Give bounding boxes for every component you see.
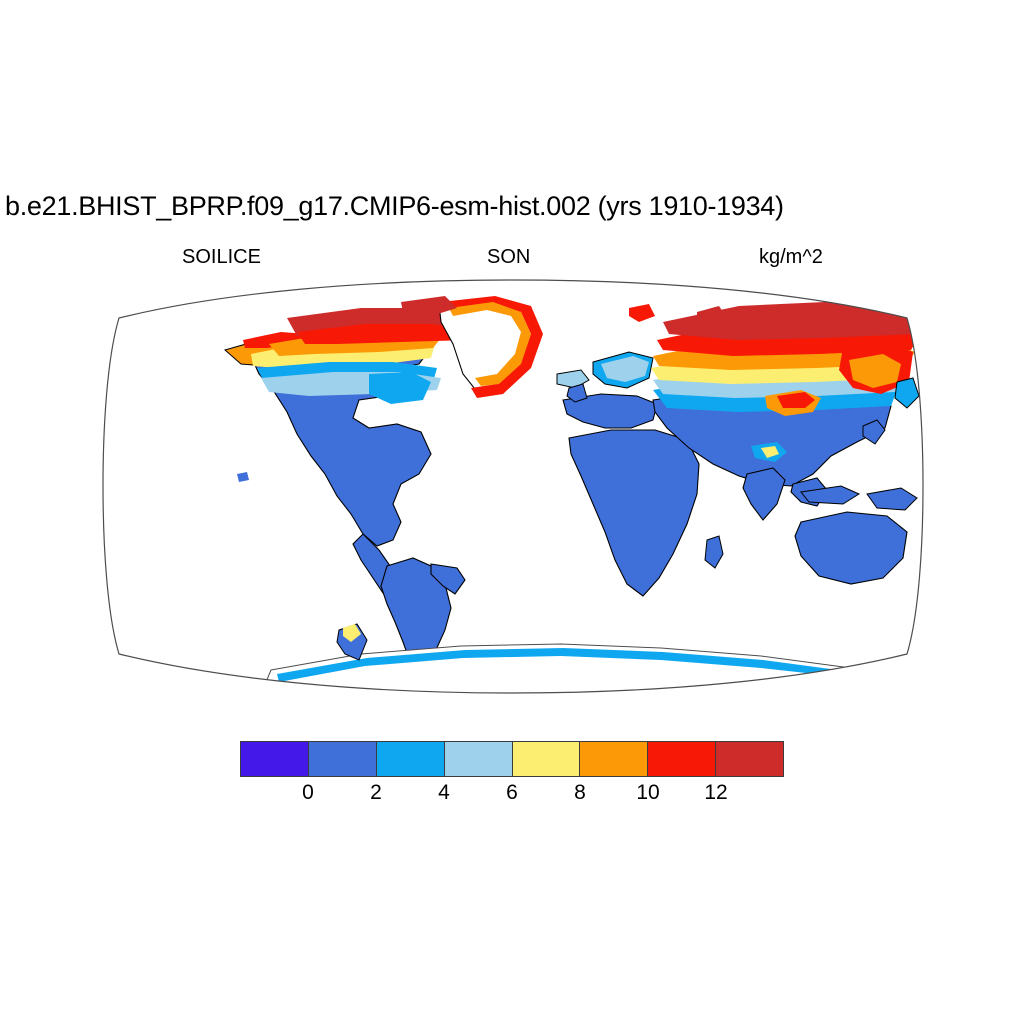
page-title: b.e21.BHIST_BPRP.f09_g17.CMIP6-esm-hist.… — [5, 190, 1021, 222]
colorbar-tick-label: 2 — [370, 780, 382, 805]
colorbar-tick-label: 4 — [438, 780, 450, 805]
colorbar-swatch — [309, 742, 377, 776]
variable-label: SOILICE — [182, 245, 261, 269]
colorbar-tick-label: 8 — [574, 780, 586, 805]
units-label: kg/m^2 — [759, 245, 823, 269]
colorbar-swatch — [241, 742, 309, 776]
colorbar-swatch — [716, 742, 783, 776]
world-map — [101, 278, 925, 695]
colorbar — [240, 741, 784, 777]
map-panel — [101, 278, 925, 695]
colorbar-swatch — [648, 742, 716, 776]
region-new-zealand — [923, 572, 925, 604]
colorbar-ticks: 024681012 — [240, 780, 784, 806]
colorbar-swatch — [580, 742, 648, 776]
figure-canvas: b.e21.BHIST_BPRP.f09_g17.CMIP6-esm-hist.… — [0, 0, 1024, 1024]
season-label: SON — [487, 245, 530, 269]
colorbar-swatch — [445, 742, 513, 776]
colorbar-tick-label: 10 — [636, 780, 659, 805]
colorbar-swatch — [513, 742, 581, 776]
colorbar-tick-label: 0 — [302, 780, 314, 805]
colorbar-swatch — [377, 742, 445, 776]
colorbar-tick-label: 12 — [704, 780, 727, 805]
colorbar-tick-label: 6 — [506, 780, 518, 805]
